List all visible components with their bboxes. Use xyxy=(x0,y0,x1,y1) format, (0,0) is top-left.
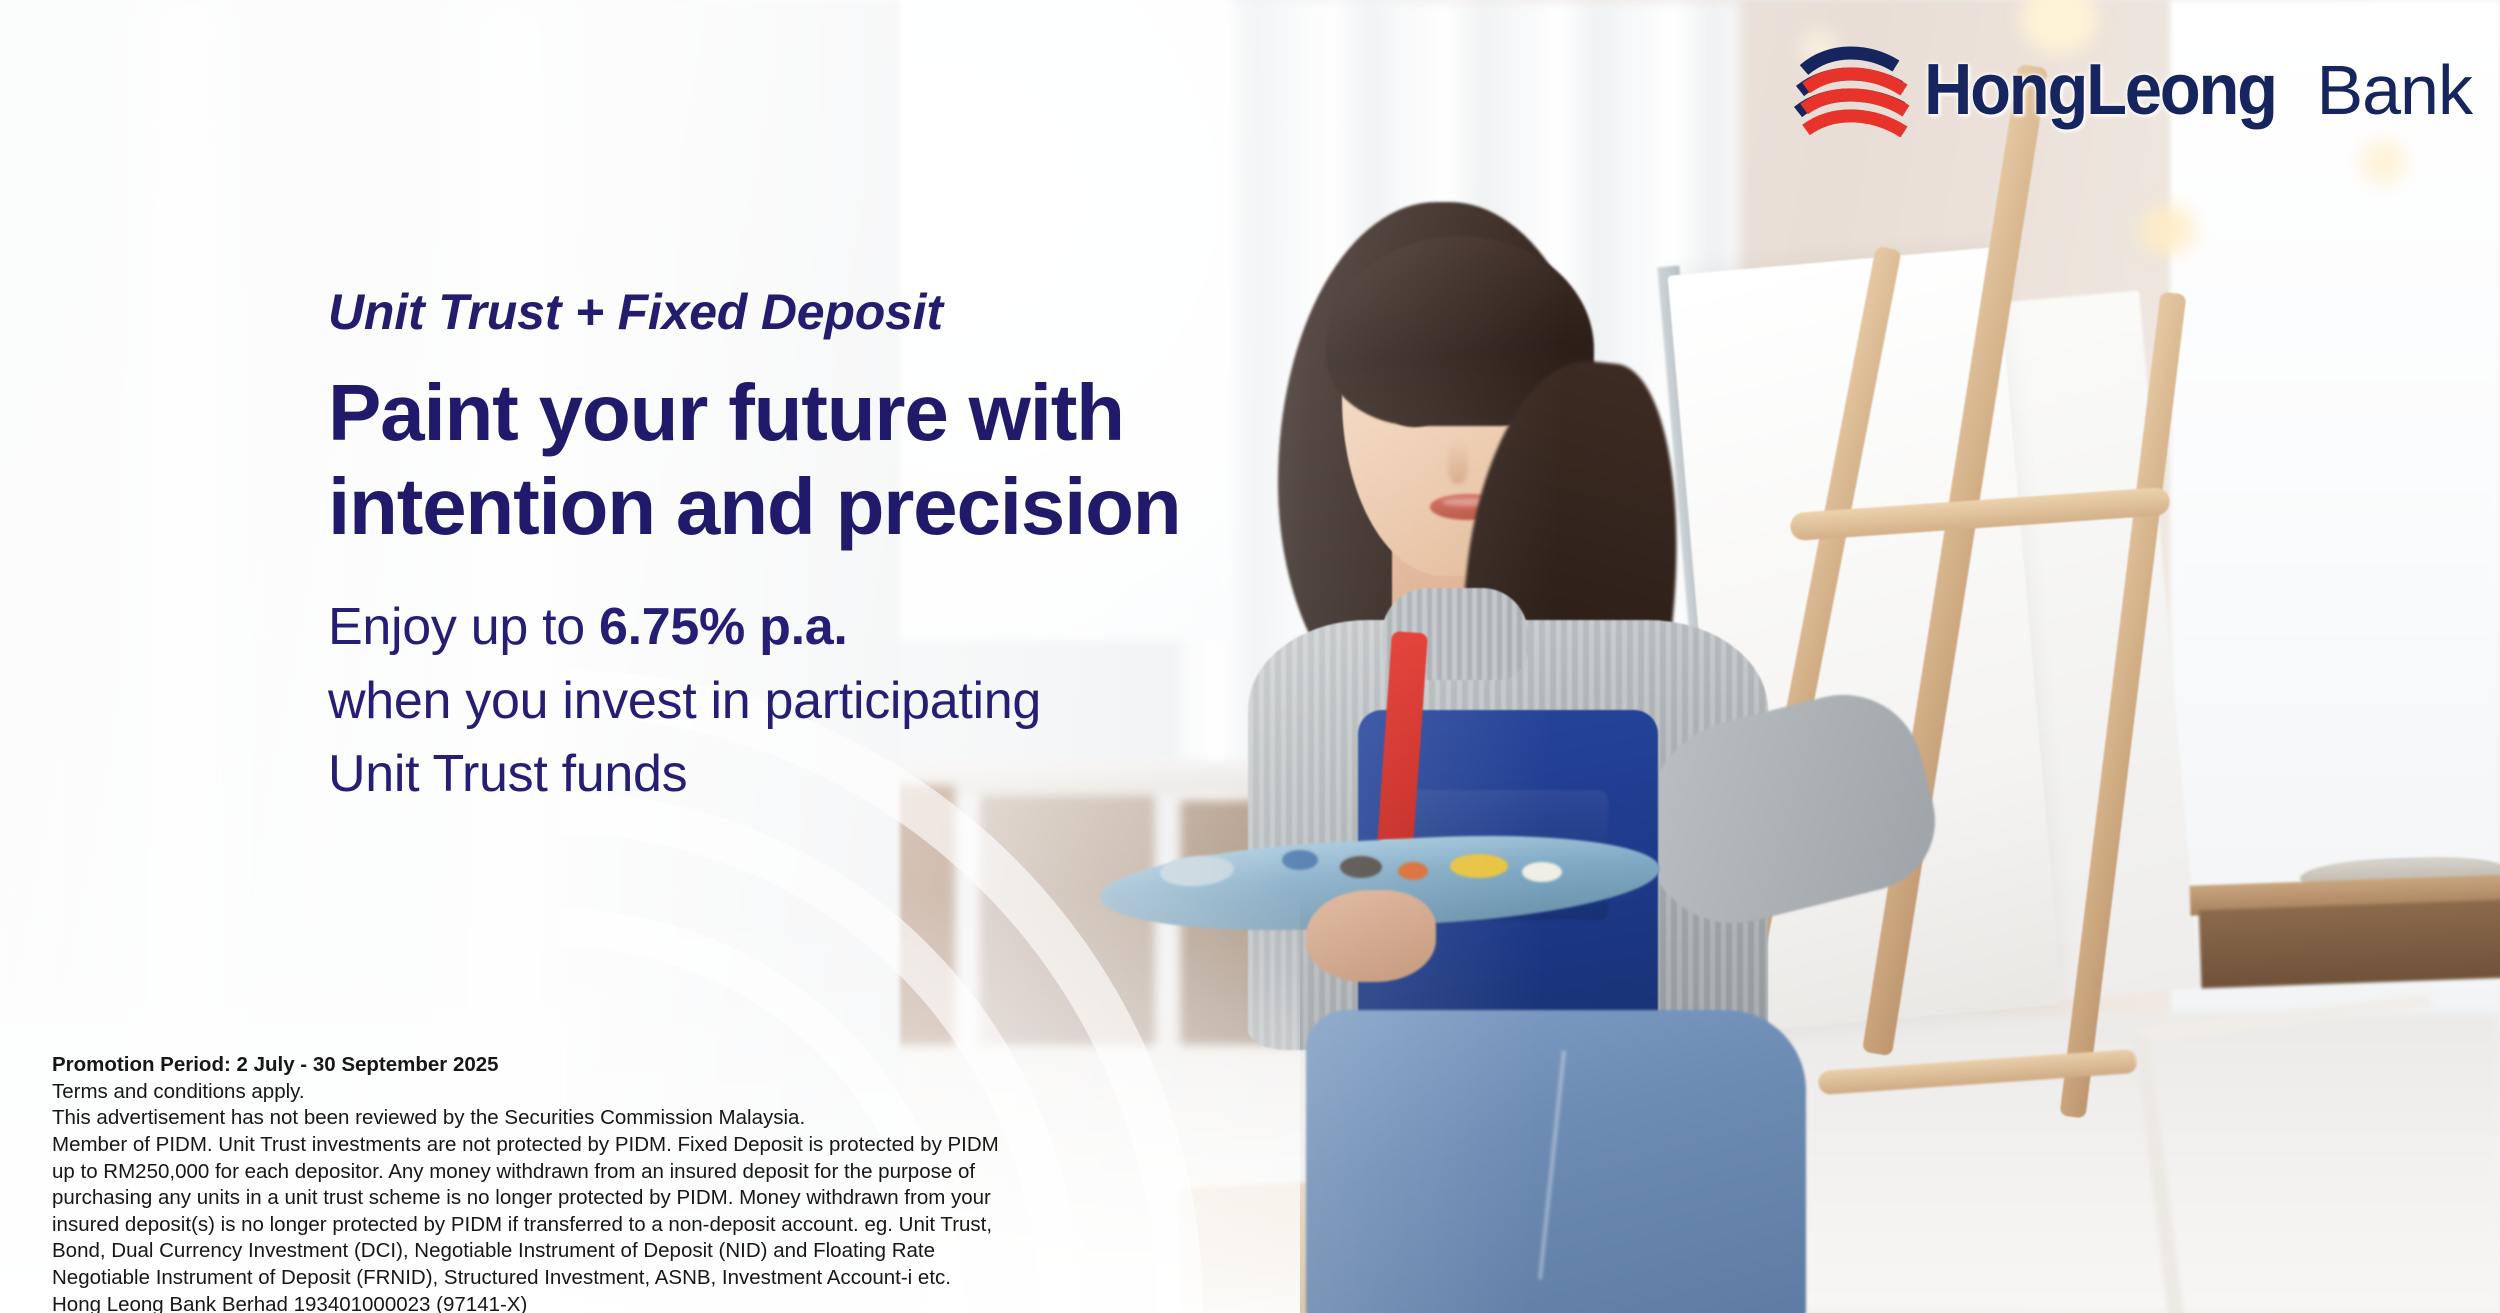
subheadline-line-3: Unit Trust funds xyxy=(328,738,1388,812)
interest-rate-value: 6.75% p.a. xyxy=(599,598,847,656)
legal-disclaimer: Promotion Period: 2 July - 30 September … xyxy=(52,1052,1052,1313)
terms-conditions-text: Terms and conditions apply. xyxy=(52,1079,1052,1106)
subheadline-prefix: Enjoy up to xyxy=(328,598,599,656)
eyebrow-text: Unit Trust + Fixed Deposit xyxy=(328,285,1388,340)
logo-wordmark: HongLeong Bank xyxy=(1924,49,2472,131)
hero-copy-block: Unit Trust + Fixed Deposit Paint your fu… xyxy=(328,285,1388,812)
legal-entity-text: Hong Leong Bank Berhad 193401000023 (971… xyxy=(52,1292,1052,1313)
pidm-notice-line: Bond, Dual Currency Investment (DCI), Ne… xyxy=(52,1238,1052,1265)
securities-commission-notice: This advertisement has not been reviewed… xyxy=(52,1105,1052,1132)
headline-line-2: intention and precision xyxy=(328,460,1388,554)
pidm-notice-line: purchasing any units in a unit trust sch… xyxy=(52,1185,1052,1212)
logo-hongleong-text: HongLeong xyxy=(1924,49,2276,131)
subheadline-line-2: when you invest in participating xyxy=(328,665,1388,739)
hong-leong-bank-logo: HongLeong Bank xyxy=(1792,36,2472,144)
hong-leong-chevron-mark xyxy=(1792,36,1910,144)
pidm-notice-line: Negotiable Instrument of Deposit (FRNID)… xyxy=(52,1265,1052,1292)
subheadline-rate-line: Enjoy up to 6.75% p.a. xyxy=(328,591,1388,665)
logo-bank-text: Bank xyxy=(2316,50,2472,130)
page-title: Paint your future with intention and pre… xyxy=(328,366,1388,555)
promotional-banner: Unit Trust + Fixed Deposit Paint your fu… xyxy=(0,0,2500,1313)
headline-line-1: Paint your future with xyxy=(328,366,1388,460)
promotion-period-text: Promotion Period: 2 July - 30 September … xyxy=(52,1052,1052,1079)
pidm-notice-line: insured deposit(s) is no longer protecte… xyxy=(52,1212,1052,1239)
subheadline: Enjoy up to 6.75% p.a. when you invest i… xyxy=(328,591,1388,812)
pidm-notice-line: Member of PIDM. Unit Trust investments a… xyxy=(52,1132,1052,1159)
pidm-notice-line: up to RM250,000 for each depositor. Any … xyxy=(52,1159,1052,1186)
